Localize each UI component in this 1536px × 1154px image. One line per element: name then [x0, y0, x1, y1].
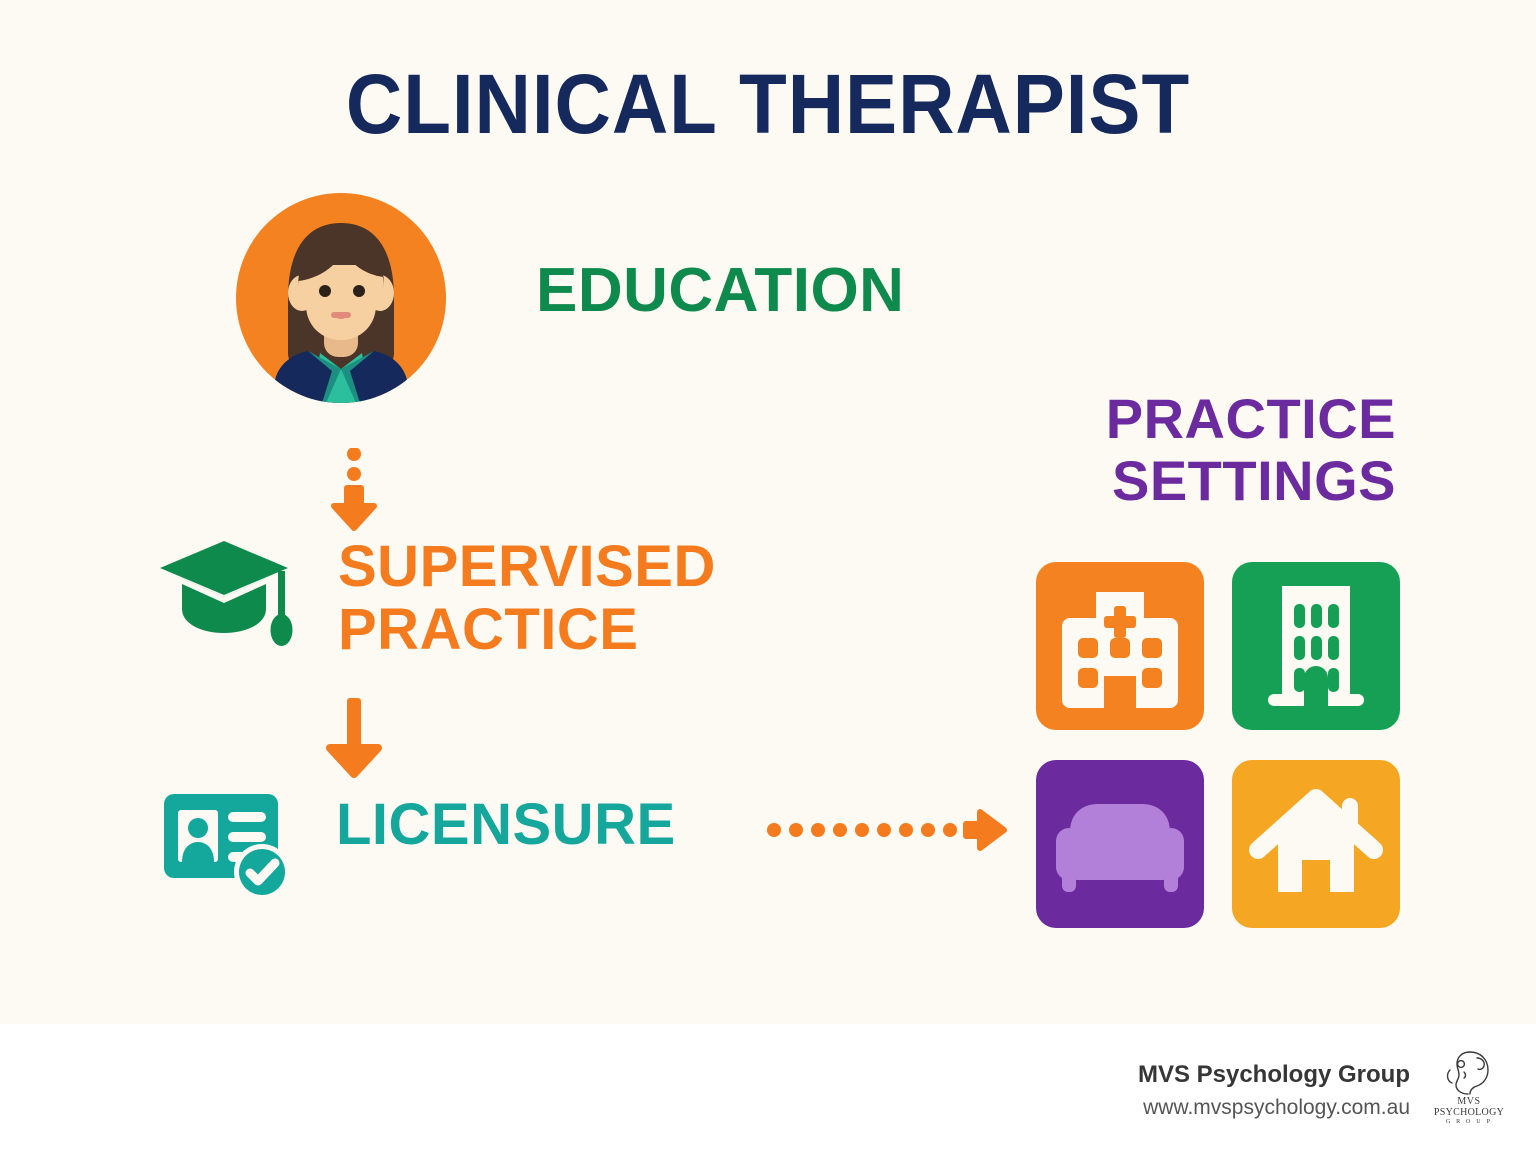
practice-setting-tile-office[interactable]: [1232, 562, 1400, 730]
footer: MVS Psychology Group www.mvspsychology.c…: [1138, 1048, 1506, 1134]
connector-supervised-to-licensure-arrow-icon: [322, 694, 386, 780]
female-therapist-avatar-icon: [236, 193, 446, 403]
step-label-education: EDUCATION: [536, 260, 904, 322]
hospital-icon: [1036, 562, 1204, 730]
therapist-avatar: [236, 193, 446, 443]
footer-text-block: MVS Psychology Group www.mvspsychology.c…: [1138, 1060, 1410, 1121]
office-building-icon: [1232, 562, 1400, 730]
practice-settings-tiles: [1036, 562, 1400, 928]
graduation-cap-icon: [152, 531, 302, 651]
connector-avatar-to-supervised-dotted-arrow-icon: [322, 448, 386, 532]
practice-setting-tile-hospital[interactable]: [1036, 562, 1204, 730]
footer-website-url[interactable]: www.mvspsychology.com.au: [1138, 1094, 1410, 1121]
page-title: CLINICAL THERAPIST: [54, 62, 1482, 146]
practice-settings-heading: PRACTICE SETTINGS: [1106, 388, 1396, 511]
avatar-circle: [236, 193, 446, 403]
step-label-supervised-practice: SUPERVISED PRACTICE: [338, 536, 716, 661]
logo-line-mvs: MVS: [1432, 1096, 1506, 1107]
step-label-licensure: LICENSURE: [336, 796, 676, 854]
practice-setting-tile-home[interactable]: [1232, 760, 1400, 928]
couch-icon: [1036, 760, 1204, 928]
practice-setting-tile-private-practice[interactable]: [1036, 760, 1204, 928]
connector-licensure-to-settings-dotted-arrow-icon: [766, 800, 1010, 856]
footer-organisation-name: MVS Psychology Group: [1138, 1060, 1410, 1090]
id-card-verified-icon: [160, 786, 305, 906]
house-icon: [1232, 760, 1400, 928]
infographic-canvas: CLINICAL THERAPIST: [0, 0, 1536, 1154]
logo-line-group: G R O U P: [1432, 1119, 1506, 1125]
logo-line-psychology: PSYCHOLOGY: [1432, 1107, 1506, 1118]
mvs-faces-logo-icon: MVS PSYCHOLOGY G R O U P: [1432, 1048, 1506, 1134]
